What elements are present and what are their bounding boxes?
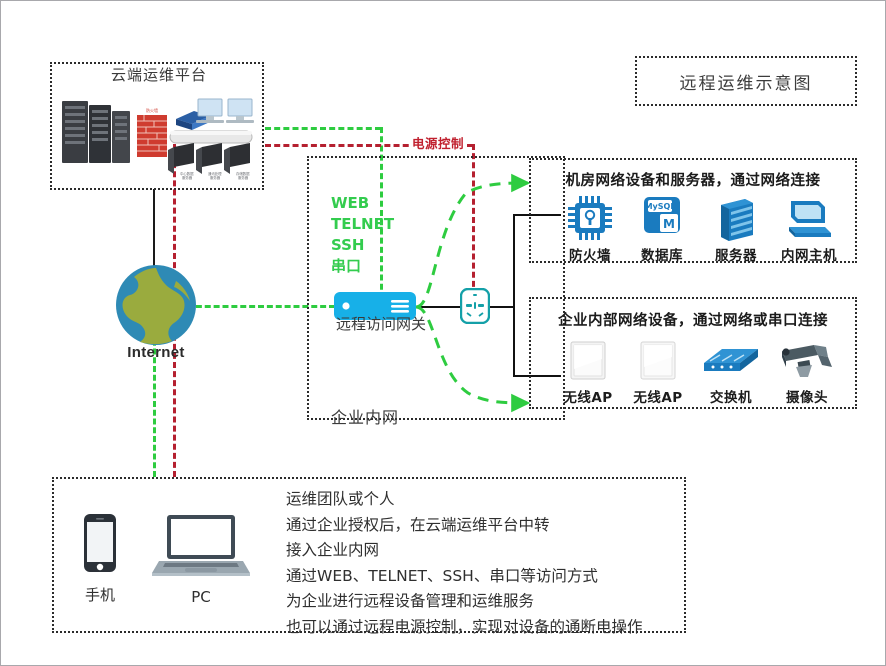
device-server[interactable]: 服务器 — [700, 193, 772, 264]
power-socket-icon — [460, 288, 490, 324]
device-laptop[interactable]: PC — [151, 513, 251, 606]
svg-text:服务器: 服务器 — [182, 175, 193, 180]
protocol-serial: 串口 — [331, 256, 394, 277]
device-smartphone-label: 手机 — [64, 584, 136, 605]
internet-label: Internet — [108, 344, 204, 361]
device-database[interactable]: MySQL M 数据库 — [626, 193, 698, 264]
device-server-label: 服务器 — [700, 244, 772, 264]
mysql-database-icon: MySQL M — [626, 193, 698, 241]
svg-text:服务器: 服务器 — [238, 175, 249, 180]
svg-text:服务器: 服务器 — [210, 175, 221, 180]
device-wireless-ap-2-label: 无线AP — [622, 386, 694, 406]
page-title: 远程运维示意图 — [680, 69, 813, 94]
svg-text:M: M — [663, 217, 675, 231]
intranet-label: 企业内网 — [331, 404, 399, 428]
device-host-label: 内网主机 — [773, 244, 845, 264]
device-wireless-ap-1[interactable]: 无线AP — [552, 335, 624, 406]
datacenter-illustration: 防火墙 中心数据 — [58, 93, 258, 181]
protocol-ssh: SSH — [331, 235, 394, 256]
gateway-label: 远程访问网关 — [319, 313, 443, 334]
network-switch-icon — [695, 335, 767, 383]
globe-icon — [114, 263, 198, 347]
cloud-to-right-green-line — [265, 127, 381, 130]
smartphone-icon — [83, 513, 117, 573]
device-switch-label: 交换机 — [695, 386, 767, 406]
device-firewall[interactable]: 防火墙 — [554, 193, 626, 264]
svg-text:MySQL: MySQL — [645, 202, 676, 211]
desktop-host-icon — [773, 193, 845, 241]
laptop-icon — [151, 513, 251, 581]
protocol-list: WEB TELNET SSH 串口 — [331, 193, 394, 277]
firewall-chip-icon — [554, 193, 626, 241]
desc-line-2: 通过企业授权后，在云端运维平台中转 — [286, 513, 643, 539]
diagram-title-box: 远程运维示意图 — [635, 56, 857, 106]
device-switch[interactable]: 交换机 — [695, 335, 767, 406]
server-room-group-title: 机房网络设备和服务器，通过网络连接 — [529, 169, 857, 190]
device-smartphone[interactable]: 手机 — [64, 513, 136, 605]
protocol-telnet: TELNET — [331, 214, 394, 235]
protocol-web: WEB — [331, 193, 394, 214]
device-database-label: 数据库 — [626, 244, 698, 264]
device-camera-label: 摄像头 — [771, 386, 843, 406]
desc-line-3: 接入企业内网 — [286, 538, 643, 564]
desc-line-6: 也可以通过远程电源控制，实现对设备的通断电操作 — [286, 615, 643, 641]
wireless-ap-icon — [552, 335, 624, 383]
device-host[interactable]: 内网主机 — [773, 193, 845, 264]
cctv-camera-icon — [771, 335, 843, 383]
device-laptop-label: PC — [151, 588, 251, 606]
desc-line-5: 为企业进行远程设备管理和运维服务 — [286, 589, 643, 615]
device-camera[interactable]: 摄像头 — [771, 335, 843, 406]
device-wireless-ap-2[interactable]: 无线AP — [622, 335, 694, 406]
device-wireless-ap-1-label: 无线AP — [552, 386, 624, 406]
svg-text:防火墙: 防火墙 — [146, 107, 158, 113]
enterprise-devices-group-title: 企业内部网络设备，通过网络或串口连接 — [529, 309, 857, 330]
device-firewall-label: 防火墙 — [554, 244, 626, 264]
power-control-label: 电源控制 — [410, 133, 466, 152]
cloud-platform-title: 云端运维平台 — [53, 64, 265, 85]
desc-line-1: 运维团队或个人 — [286, 487, 643, 513]
client-description: 运维团队或个人 通过企业授权后，在云端运维平台中转 接入企业内网 通过WEB、T… — [286, 487, 643, 640]
desc-line-4: 通过WEB、TELNET、SSH、串口等访问方式 — [286, 564, 643, 590]
wireless-ap-icon — [622, 335, 694, 383]
server-rack-icon — [700, 193, 772, 241]
diagram-canvas: 电源控制 云端运维平台 — [0, 0, 886, 666]
